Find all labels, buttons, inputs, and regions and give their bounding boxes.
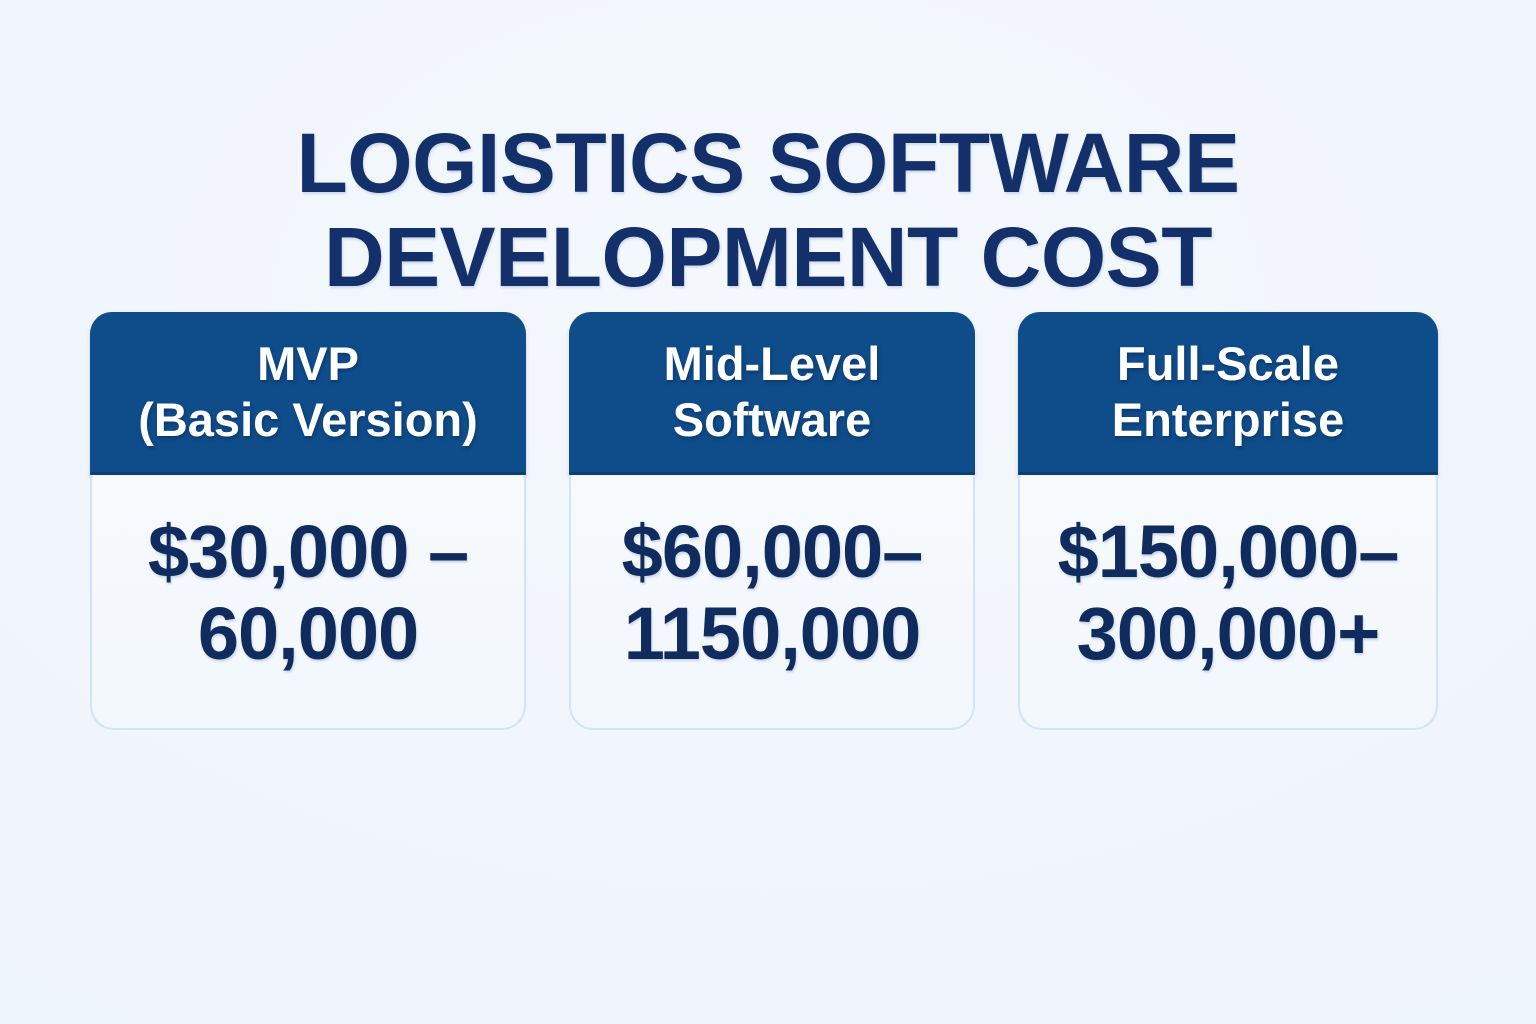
cost-card-full-scale-enterprise-body: $150,000– 300,000+: [1018, 475, 1438, 730]
cost-card-mid-level-value: $60,000– 1150,000: [585, 511, 959, 675]
cost-card-mvp: MVP (Basic Version) $30,000 –60,000: [90, 312, 526, 730]
cost-card-full-scale-enterprise-header: Full-Scale Enterprise: [1018, 312, 1438, 475]
page-title: Logistics Software Development Cost: [0, 116, 1536, 304]
cost-card-mid-level: Mid-Level Software $60,000– 1150,000: [569, 312, 975, 730]
cost-card-full-scale-enterprise-value: $150,000– 300,000+: [1034, 511, 1422, 675]
cost-card-mvp-header-label: MVP (Basic Version): [138, 336, 478, 448]
cost-card-mvp-body: $30,000 –60,000: [90, 475, 526, 730]
cost-card-mvp-value: $30,000 –60,000: [106, 511, 510, 675]
cost-card-mvp-header: MVP (Basic Version): [90, 312, 526, 475]
cost-card-mid-level-header-label: Mid-Level Software: [664, 336, 881, 448]
cost-card-full-scale-enterprise: Full-Scale Enterprise $150,000– 300,000+: [1018, 312, 1438, 730]
infographic-page: Logistics Software Development Cost MVP …: [0, 0, 1536, 1024]
cost-card-full-scale-enterprise-header-label: Full-Scale Enterprise: [1112, 336, 1344, 448]
cost-tier-card-row: MVP (Basic Version) $30,000 –60,000 Mid-…: [90, 312, 1438, 730]
cost-card-mid-level-header: Mid-Level Software: [569, 312, 975, 475]
cost-card-mid-level-body: $60,000– 1150,000: [569, 475, 975, 730]
